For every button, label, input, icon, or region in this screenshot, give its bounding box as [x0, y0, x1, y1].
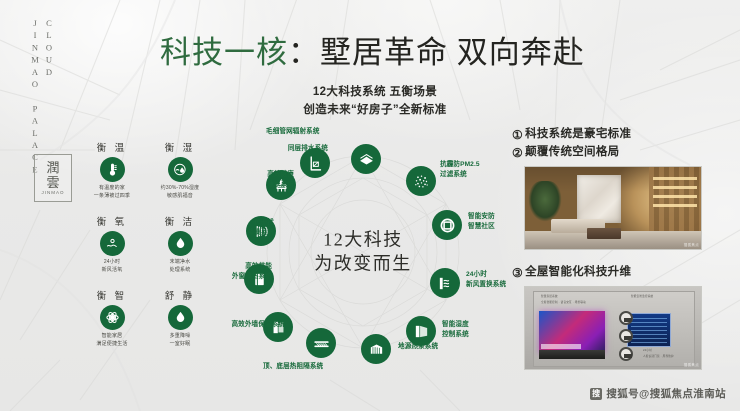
balance-item-title: 衡 智 — [97, 288, 127, 302]
capillary-radiant-icon[interactable] — [351, 144, 381, 174]
wheel-node-line1: 智能安防 — [468, 212, 495, 222]
wheel-node-label-10: 抗干扰降噪系统 — [247, 218, 274, 237]
wheel-center-line1: 12大科技 — [314, 227, 412, 251]
exhibit-colour-screen — [539, 311, 605, 353]
balance-item-4[interactable]: 衡 洁末端净水处理系统 — [150, 214, 210, 274]
wheel-node-label-2: 抗霾防PM2.5过滤系统 — [440, 160, 480, 179]
sohu-logo-icon: 搜 — [590, 388, 602, 400]
brand-logo-sub: JINMAO — [41, 190, 64, 195]
balance-item-sub-line2: 敏感肌福音 — [161, 193, 200, 201]
balance-item-subtext: 智能家居满足便捷生活 — [96, 333, 127, 348]
wheel-node-line2: 降噪系统 — [247, 228, 274, 238]
exhibit-black-console — [539, 350, 605, 359]
thermometer-icon — [100, 157, 125, 182]
balance-item-title: 衡 氧 — [97, 214, 127, 228]
wheel-node-label-8: 高效外墙保温系统 — [231, 320, 285, 330]
wheel-node-label-11: 高效健康净水系统 — [267, 170, 294, 189]
balance-item-sub-line1: 24小时 — [102, 259, 123, 267]
luxury-lobby-photo: 搜狐焦点 — [524, 166, 702, 250]
balance-item-sub-line1: 约30%-70%湿度 — [161, 185, 200, 193]
highlight-item-2: ② 颠覆传统空间格局 — [512, 144, 724, 162]
balance-item-sub-line1: 有温度的家 — [94, 185, 130, 193]
brand-logo-char-1: 潤 — [46, 161, 59, 175]
wheel-node-label-4: 24小时新风置换系统 — [466, 270, 506, 289]
wheel-center-line2: 为改变而生 — [314, 252, 412, 276]
brand-logo: 潤 雲 JINMAO — [34, 154, 72, 202]
balance-item-title: 舒 静 — [165, 288, 195, 302]
exhibit-dial-3 — [619, 347, 633, 361]
exhibit-left-body: 全屋智能控制 · 语音交互 · 场景联动 — [541, 301, 586, 305]
right-highlights-panel: ① 科技系统是豪宅标准 ② 颠覆传统空间格局 搜狐焦点 ③ 全屋智能化科技升维 … — [512, 126, 724, 384]
wheel-node-label-7: 顶、底层热阻隔系统 — [263, 362, 323, 372]
exhibit-left-caption: 智慧家居系统 — [541, 295, 558, 299]
fresh-air-icon[interactable] — [430, 268, 460, 298]
exhibit-right-caption: 智能安防监控系统 — [631, 295, 653, 299]
balance-item-title: 衡 温 — [97, 140, 127, 154]
lobby-lights — [653, 177, 697, 207]
balance-item-subtext: 有温度的家一条薄被过四季 — [94, 185, 130, 200]
wheel-node-label-3: 智能安防智慧社区 — [468, 212, 495, 231]
page-subtitle-line1: 12大科技系统 五衡场景 — [160, 84, 590, 102]
roof-floor-barrier-icon[interactable] — [306, 328, 336, 358]
highlight-2-number: ② — [512, 144, 523, 162]
balance-item-sub-line2: 满足便捷生活 — [96, 341, 127, 349]
wheel-node-line1: 同层排水系统 — [288, 144, 328, 154]
sohu-watermark-text: 搜狐号@搜狐焦点淮南站 — [606, 386, 726, 401]
brand-rail-cloud: CLOUD — [44, 18, 54, 79]
balance-item-sub-line2: 一室好眠 — [170, 341, 191, 349]
balance-item-sub-line2: 一条薄被过四季 — [94, 193, 130, 201]
balance-item-title: 衡 洁 — [165, 214, 195, 228]
exhibit-right-body: 24小时 — [643, 349, 652, 353]
wheel-node-line1: 高效健康 — [267, 170, 294, 180]
wheel-node-label-5: 智能湿度控制系统 — [442, 320, 469, 339]
wheel-node-line2: 智慧社区 — [468, 222, 495, 232]
balance-item-5[interactable]: 衡 智智能家居满足便捷生活 — [82, 288, 142, 348]
balance-item-6[interactable]: 舒 静多重降噪一室好眠 — [150, 288, 210, 348]
balance-item-3[interactable]: 衡 氧24小时新风活氧 — [82, 214, 142, 274]
smart-home-exhibit-photo: 智慧家居系统 全屋智能控制 · 语音交互 · 场景联动 智能安防监控系统 24小… — [524, 286, 702, 370]
wheel-node-line2: 过滤系统 — [440, 170, 480, 180]
exhibit-screen-strip — [541, 344, 581, 349]
exhibit-monitor-screen — [627, 313, 671, 347]
balance-item-sub-line1: 末端净水 — [170, 259, 191, 267]
wheel-node-line1: 顶、底层热阻隔系统 — [263, 362, 323, 372]
balance-item-subtext: 24小时新风活氧 — [102, 259, 123, 274]
wheel-node-line1: 抗霾防PM2.5 — [440, 160, 480, 170]
sohu-watermark: 搜 搜狐号@搜狐焦点淮南站 — [590, 386, 726, 401]
photo-1-watermark: 搜狐焦点 — [684, 243, 699, 248]
lobby-marble-feature-wall — [577, 175, 621, 223]
wheel-node-line1: 高效外墙保温系统 — [231, 320, 285, 330]
highlight-item-1: ① 科技系统是豪宅标准 — [512, 126, 724, 144]
wheel-node-label-6: 地源热泵系统 — [398, 342, 438, 352]
balance-item-title: 衡 湿 — [165, 140, 195, 154]
balance-item-sub-line1: 智能家居 — [96, 333, 127, 341]
balance-item-subtext: 多重降噪一室好眠 — [170, 333, 191, 348]
page-title: 科技一核：墅居革命 双向奔赴 — [160, 36, 590, 70]
balance-item-sub-line2: 新风活氧 — [102, 267, 123, 275]
wheel-node-line1: 抗干扰 — [247, 218, 274, 228]
exhibit-dial-1 — [619, 311, 633, 325]
balance-item-subtext: 末端净水处理系统 — [170, 259, 191, 274]
wheel-center-text: 12大科技 为改变而生 — [314, 227, 412, 276]
highlight-3-text: 全屋智能化科技升维 — [525, 264, 631, 281]
highlight-3-number: ③ — [512, 264, 523, 282]
pm25-filter-icon[interactable] — [406, 166, 436, 196]
highlight-item-3: ③ 全屋智能化科技升维 — [512, 264, 724, 282]
exhibit-right-body2: 人脸识别门禁 · 周界防护 — [643, 355, 674, 359]
balance-item-subtext: 约30%-70%湿度敏感肌福音 — [161, 185, 200, 200]
ground-heat-pump-icon[interactable] — [361, 334, 391, 364]
wheel-node-line2: 控制系统 — [442, 330, 469, 340]
wheel-node-line1: 24小时 — [466, 270, 506, 280]
page-subtitle: 12大科技系统 五衡场景 创造未来“好房子”全新标准 — [160, 84, 590, 120]
security-shield-icon[interactable] — [432, 210, 462, 240]
balance-item-2[interactable]: 衡 湿约30%-70%湿度敏感肌福音 — [150, 140, 210, 200]
five-balance-grid: 衡 温有温度的家一条薄被过四季衡 湿约30%-70%湿度敏感肌福音衡 氧24小时… — [82, 140, 210, 348]
photo-2-watermark: 搜狐焦点 — [684, 363, 699, 368]
wheel-node-line1: 高效节能 — [232, 262, 272, 272]
exhibit-dial-2 — [619, 329, 633, 343]
lobby-coffee-table — [587, 228, 621, 239]
brand-rail-palace: JINMAO PALACE — [30, 18, 40, 177]
humidity-icon — [168, 157, 193, 182]
wheel-node-label-9: 高效节能外窗隔热系统 — [232, 262, 272, 281]
page-title-green: 科技一核 — [160, 35, 288, 70]
brand-rail: CLOUD JINMAO PALACE 潤 雲 JINMAO — [28, 14, 74, 194]
balance-item-sub-line1: 多重降噪 — [170, 333, 191, 341]
highlight-1-number: ① — [512, 126, 523, 144]
smart-atom-icon — [100, 305, 125, 330]
page-subtitle-line2: 创造未来“好房子”全新标准 — [160, 102, 590, 120]
wheel-node-line2: 外窗隔热系统 — [232, 272, 272, 282]
page-title-dark: ：墅居革命 双向奔赴 — [288, 35, 585, 70]
quiet-drop-icon — [168, 305, 193, 330]
wheel-node-label-1: 毛细管网辐射系统 — [266, 127, 320, 137]
wheel-node-line1: 地源热泵系统 — [398, 342, 438, 352]
highlight-1-text: 科技系统是豪宅标准 — [525, 126, 631, 143]
highlight-2-text: 颠覆传统空间格局 — [525, 144, 619, 161]
balance-item-1[interactable]: 衡 温有温度的家一条薄被过四季 — [82, 140, 142, 200]
oxygen-icon — [100, 231, 125, 256]
wheel-node-label-12: 同层排水系统 — [288, 144, 328, 154]
wheel-node-line2: 新风置换系统 — [466, 280, 506, 290]
balance-item-sub-line2: 处理系统 — [170, 267, 191, 275]
exhibit-monitor-grid — [631, 317, 667, 343]
water-drop-icon — [168, 231, 193, 256]
brand-logo-char-2: 雲 — [46, 176, 59, 190]
twelve-tech-wheel: 12大科技 为改变而生 毛细管网辐射系统抗霾防PM2.5过滤系统智能安防智慧社区… — [218, 140, 508, 365]
wheel-node-line1: 毛细管网辐射系统 — [266, 127, 320, 137]
wheel-node-line1: 智能湿度 — [442, 320, 469, 330]
wheel-node-line2: 净水系统 — [267, 180, 294, 190]
